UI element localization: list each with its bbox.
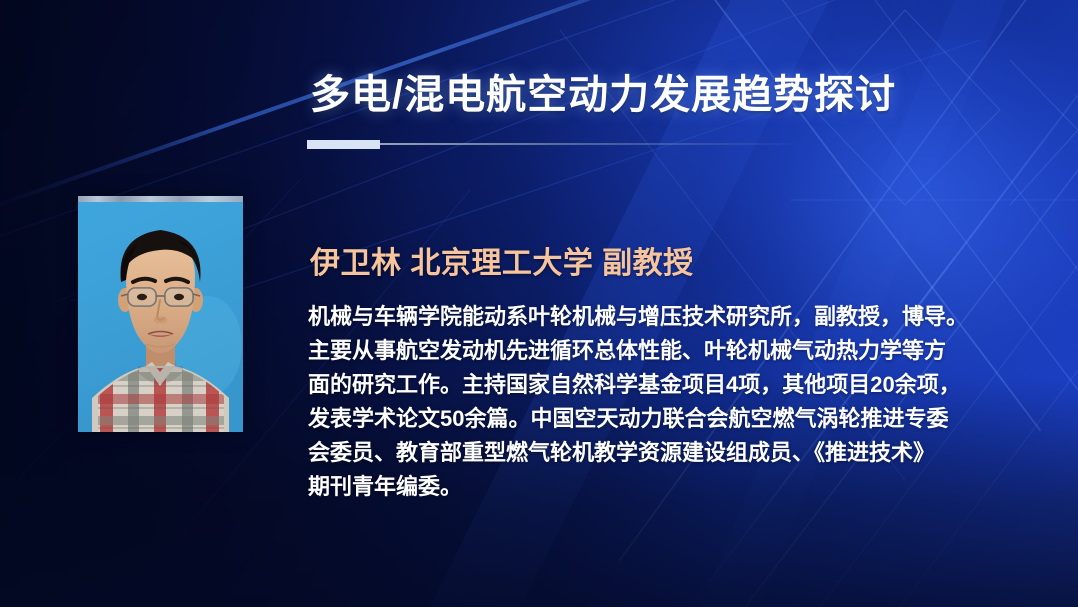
bio-line: 会委员、教育部重型燃气轮机教学资源建设组成员、《推进技术》 — [308, 436, 1008, 470]
speaker-name-line: 伊卫林 北京理工大学 副教授 — [310, 238, 694, 282]
divider-accent-bar — [307, 140, 380, 149]
bio-line: 发表学术论文50余篇。中国空天动力联合会航空燃气涡轮推进专委 — [308, 402, 1008, 436]
page-title: 多电/混电航空动力发展趋势探讨 — [310, 62, 896, 120]
bio-line: 面的研究工作。主持国家自然科学基金项目4项，其他项目20余项， — [308, 368, 1008, 402]
title-divider — [307, 140, 807, 149]
bio-line: 机械与车辆学院能动系叶轮机械与增压技术研究所，副教授，博导。 — [308, 300, 1008, 334]
presentation-slide: 多电/混电航空动力发展趋势探讨 — [0, 0, 1078, 607]
speaker-photo — [78, 196, 243, 432]
bio-line: 期刊青年编委。 — [308, 470, 1008, 504]
bio-line: 主要从事航空发动机先进循环总体性能、叶轮机械气动热力学等方 — [308, 334, 1008, 368]
divider-rule — [380, 143, 807, 145]
photo-top-scan-strip — [78, 196, 243, 202]
speaker-biography: 机械与车辆学院能动系叶轮机械与增压技术研究所，副教授，博导。 主要从事航空发动机… — [308, 300, 1008, 504]
